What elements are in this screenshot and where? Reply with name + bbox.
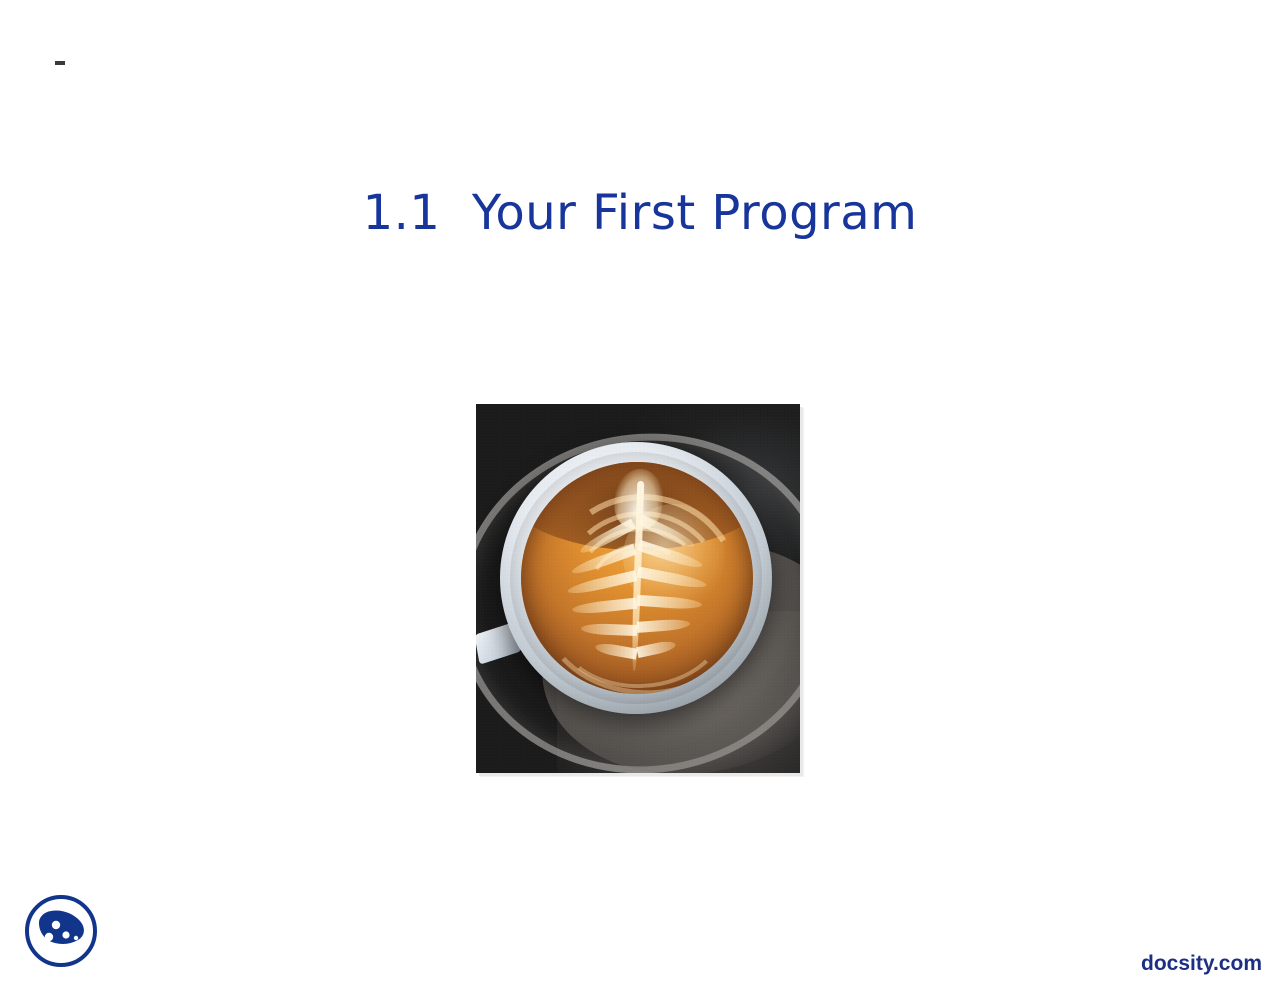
page-title: 1.1 Your First Program	[0, 186, 1280, 241]
coffee-photo-canvas	[476, 404, 800, 773]
footer-brand: docsity.com	[1141, 952, 1262, 976]
crema-surface	[521, 462, 753, 694]
docsity-logo	[23, 893, 99, 969]
top-left-dash-mark	[55, 61, 65, 65]
coffee-photo	[476, 404, 800, 773]
